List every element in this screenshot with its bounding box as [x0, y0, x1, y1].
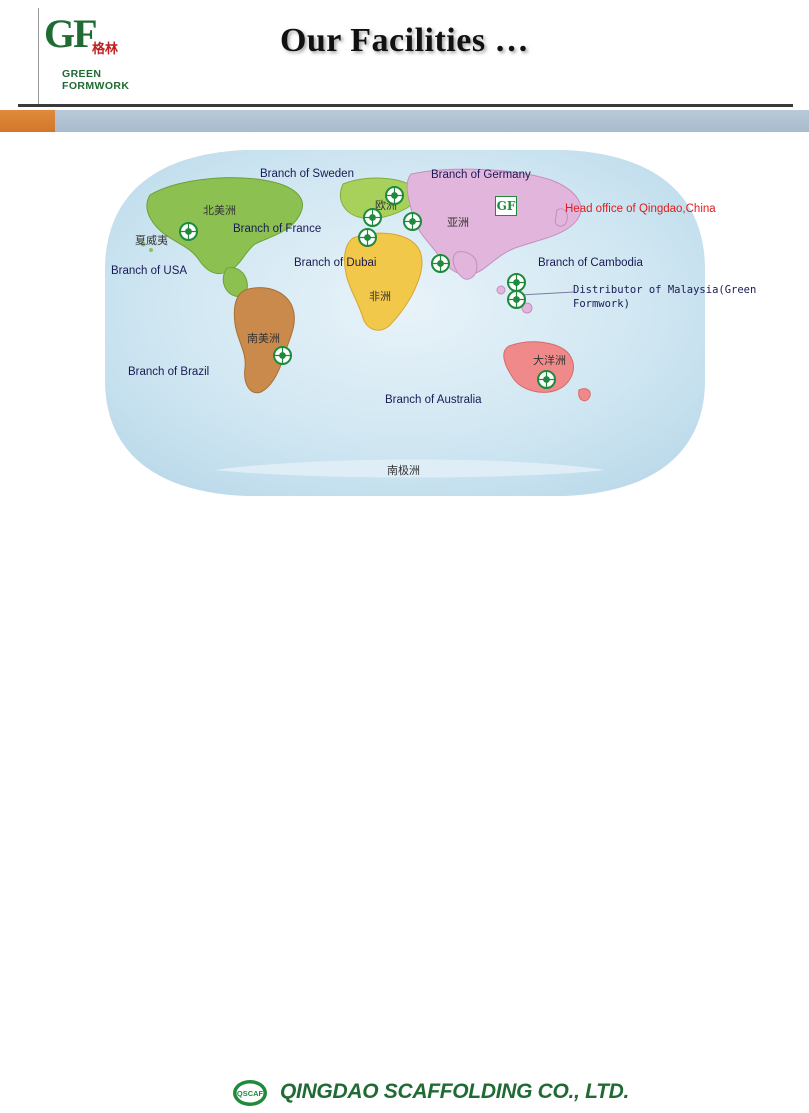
continent-label: 亚洲: [447, 214, 469, 230]
continent-label: 南美洲: [247, 330, 280, 346]
pin-dubai[interactable]: [431, 254, 450, 273]
label-branch-france: Branch of France: [233, 223, 321, 235]
pin-sweden[interactable]: [385, 186, 404, 205]
label-branch-germany: Branch of Germany: [431, 169, 531, 181]
company-name: QINGDAO SCAFFOLDING CO., LTD.: [280, 1080, 629, 1104]
continent-label: 北美洲: [203, 202, 236, 218]
label-branch-dubai: Branch of Dubai: [294, 257, 376, 269]
leader-line-malaysia: [520, 290, 578, 300]
pin-austria[interactable]: [403, 212, 422, 231]
continent-label: 非洲: [369, 288, 391, 304]
continent-label: 大洋洲: [533, 352, 566, 368]
pin-brazil[interactable]: [273, 346, 292, 365]
label-distributor-malaysia: Distributor of Malaysia(Green Formwork): [573, 283, 763, 311]
pin-australia[interactable]: [537, 370, 556, 389]
pin-usa[interactable]: [179, 222, 198, 241]
slide: GF 格林 GREEN FORMWORK Our Facilities …: [0, 0, 809, 607]
pin-germany[interactable]: [363, 208, 382, 227]
qingdao-office-marker-icon[interactable]: GF: [495, 196, 517, 216]
pin-malaysia[interactable]: [507, 290, 526, 309]
qscaf-badge-icon: QSCAF: [232, 1078, 268, 1108]
label-branch-australia: Branch of Australia: [385, 394, 482, 406]
label-head-office-qingdao: Head office of Qingdao,China: [565, 203, 716, 215]
continent-label: 夏威夷: [135, 232, 168, 248]
world-map-graphic: [95, 140, 715, 500]
header-divider-horizontal: [18, 104, 793, 107]
qscaf-badge-text: QSCAF: [237, 1089, 264, 1098]
label-branch-brazil: Branch of Brazil: [128, 366, 209, 378]
svg-text:GF: GF: [497, 199, 516, 213]
accent-band-orange: [0, 110, 55, 132]
label-branch-cambodia: Branch of Cambodia: [538, 257, 643, 269]
pin-france[interactable]: [358, 228, 377, 247]
continent-label: 南极洲: [387, 462, 420, 478]
accent-band-blue: [55, 110, 809, 132]
footer: QSCAF QINGDAO SCAFFOLDING CO., LTD.: [0, 536, 809, 576]
logo-english-name: GREEN FORMWORK: [62, 68, 164, 92]
label-branch-sweden: Branch of Sweden: [260, 168, 354, 180]
label-branch-usa: Branch of USA: [111, 265, 187, 277]
world-map: 北美洲 夏威夷 欧洲 亚洲 非洲 南美洲 大洋洲 南极洲 Branch of S…: [95, 140, 715, 500]
page-title: Our Facilities …: [0, 22, 809, 60]
